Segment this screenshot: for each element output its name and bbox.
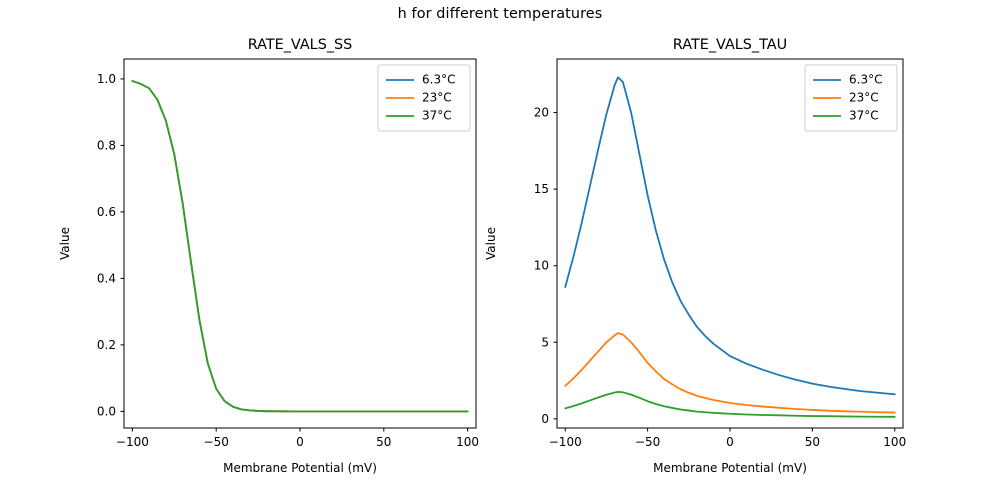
x-tick-label: −50 <box>635 435 660 449</box>
x-tick-label: 100 <box>456 435 479 449</box>
x-tick-label: −50 <box>204 435 229 449</box>
matplotlib-figure: h for different temperatures RATE_VALS_S… <box>0 0 1000 500</box>
y-tick-label: 15 <box>534 182 549 196</box>
subplot-1: RATE_VALS_SS−100−500501000.00.20.40.60.8… <box>58 37 479 475</box>
legend-label-1: 23°C <box>422 91 452 105</box>
figure-canvas: RATE_VALS_SS−100−500501000.00.20.40.60.8… <box>0 0 1000 500</box>
legend-label-2: 37°C <box>849 109 879 123</box>
x-tick-label: 50 <box>376 435 391 449</box>
y-tick-label: 0.4 <box>97 271 116 285</box>
y-tick-label: 0.2 <box>97 338 116 352</box>
series-line-23C <box>565 333 895 412</box>
y-tick-label: 0.6 <box>97 205 116 219</box>
legend-label-2: 37°C <box>422 109 452 123</box>
x-tick-label: −100 <box>549 435 582 449</box>
legend-label-0: 6.3°C <box>422 73 455 87</box>
x-tick-label: 0 <box>726 435 734 449</box>
legend-label-1: 23°C <box>849 91 879 105</box>
x-tick-label: 100 <box>883 435 906 449</box>
y-tick-label: 1.0 <box>97 72 116 86</box>
y-tick-label: 0.0 <box>97 404 116 418</box>
x-axis-label: Membrane Potential (mV) <box>653 461 807 475</box>
series-line-37C <box>565 392 895 417</box>
figure-suptitle: h for different temperatures <box>0 6 1000 22</box>
y-tick-label: 0 <box>541 412 549 426</box>
y-tick-label: 20 <box>534 106 549 120</box>
y-tick-label: 10 <box>534 259 549 273</box>
x-tick-label: 0 <box>296 435 304 449</box>
legend-label-0: 6.3°C <box>849 73 882 87</box>
y-axis-label: Value <box>484 227 498 260</box>
subplot-title-2: RATE_VALS_TAU <box>673 37 787 53</box>
y-tick-label: 5 <box>541 335 549 349</box>
x-tick-label: −100 <box>116 435 149 449</box>
x-axis-label: Membrane Potential (mV) <box>223 461 377 475</box>
y-axis-label: Value <box>58 227 72 260</box>
x-tick-label: 50 <box>805 435 820 449</box>
subplot-title-1: RATE_VALS_SS <box>248 37 353 53</box>
subplot-2: RATE_VALS_TAU−100−5005010005101520Membra… <box>484 37 906 475</box>
y-tick-label: 0.8 <box>97 138 116 152</box>
